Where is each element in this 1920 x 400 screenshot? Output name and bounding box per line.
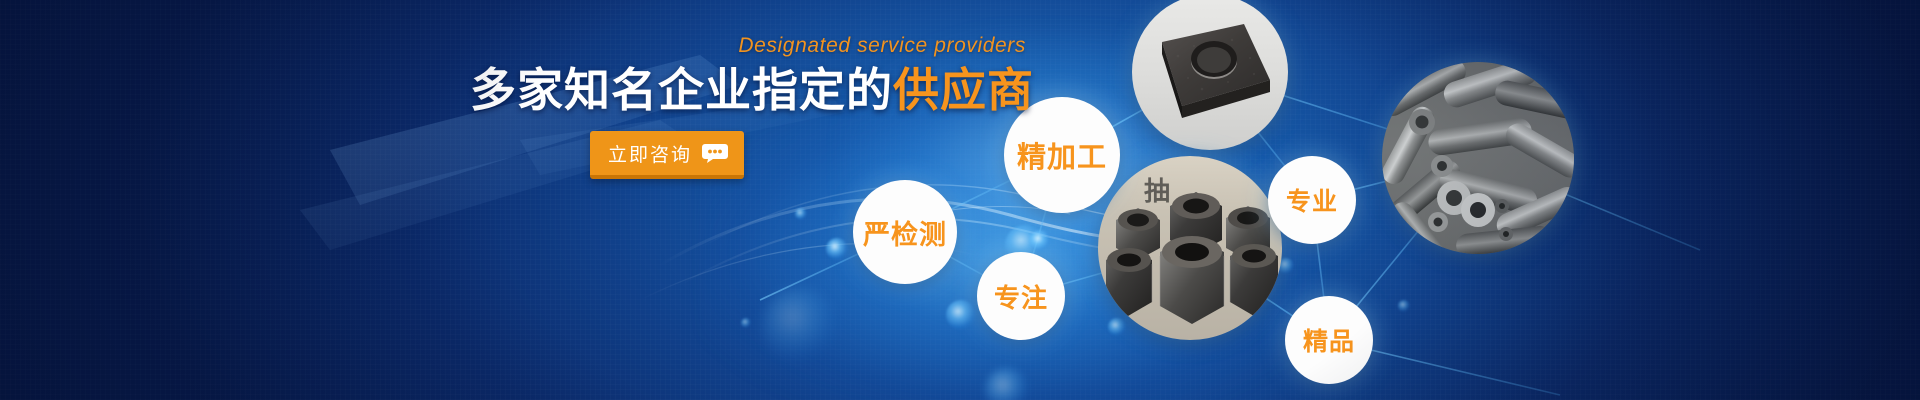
edge-vignette <box>0 0 1920 400</box>
promo-banner: 抽 <box>0 0 1920 400</box>
